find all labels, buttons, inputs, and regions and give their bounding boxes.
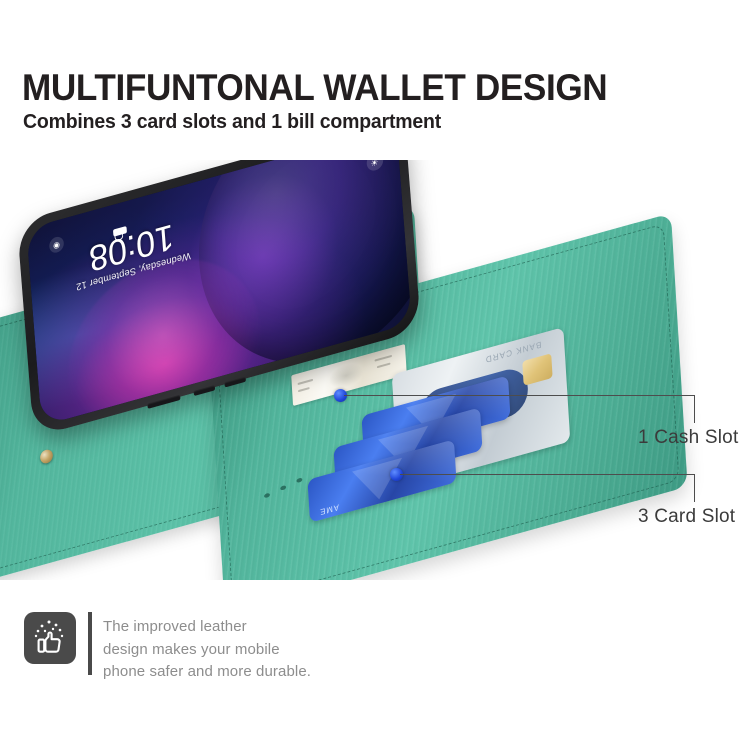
card-slot-leader-line [400,474,695,475]
callout-label-cash-slot: 1 Cash Slot [638,427,738,449]
product-feature-image: MULTIFUNTONAL WALLET DESIGN Combines 3 c… [0,0,750,750]
feature-line: phone safer and more durable. [103,661,311,684]
card-slot-leader-drop [694,474,695,502]
page-title: MULTIFUNTONAL WALLET DESIGN [22,67,607,109]
feature-line: The improved leather [103,616,311,639]
feature-divider [88,612,92,675]
feature-description: The improved leather design makes your m… [103,616,311,684]
thumbs-up-icon [24,612,76,664]
cash-slot-leader-line [344,395,695,396]
cash-slot-leader-drop [694,395,695,423]
card-label: AME [319,502,339,517]
callout-label-card-slot: 3 Card Slot [638,506,735,528]
page-subtitle: Combines 3 card slots and 1 bill compart… [23,110,441,134]
banknote-watermark [328,360,364,392]
bank-card-chip [522,353,552,386]
feature-line: design makes your mobile [103,639,311,662]
